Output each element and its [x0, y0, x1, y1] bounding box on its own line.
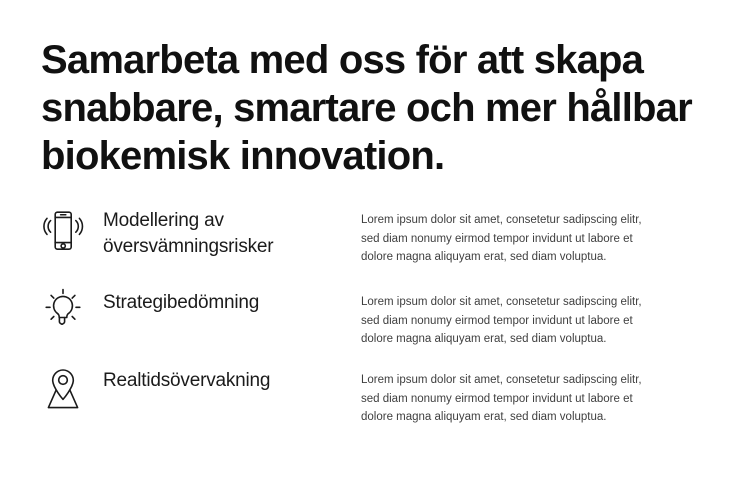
- landing-page-section: Samarbeta med oss för att skapa snabbare…: [0, 0, 750, 482]
- map-location-pin-icon: [41, 360, 103, 416]
- feature-description: Lorem ipsum dolor sit amet, consetetur s…: [353, 360, 657, 427]
- feature-item: Realtidsövervakning Lorem ipsum dolor si…: [41, 360, 709, 442]
- feature-item: Strategibedömning Lorem ipsum dolor sit …: [41, 282, 709, 360]
- feature-list: Modellering av översvämningsrisker Lorem…: [41, 200, 709, 442]
- lightbulb-idea-icon: [41, 282, 103, 338]
- smartphone-vibration-icon: [41, 200, 103, 256]
- feature-title: Modellering av översvämningsrisker: [103, 200, 353, 260]
- page-title: Samarbeta med oss för att skapa snabbare…: [41, 36, 721, 180]
- feature-title: Realtidsövervakning: [103, 360, 353, 394]
- feature-item: Modellering av översvämningsrisker Lorem…: [41, 200, 709, 282]
- feature-description: Lorem ipsum dolor sit amet, consetetur s…: [353, 200, 657, 267]
- feature-description: Lorem ipsum dolor sit amet, consetetur s…: [353, 282, 657, 349]
- feature-title: Strategibedömning: [103, 282, 353, 316]
